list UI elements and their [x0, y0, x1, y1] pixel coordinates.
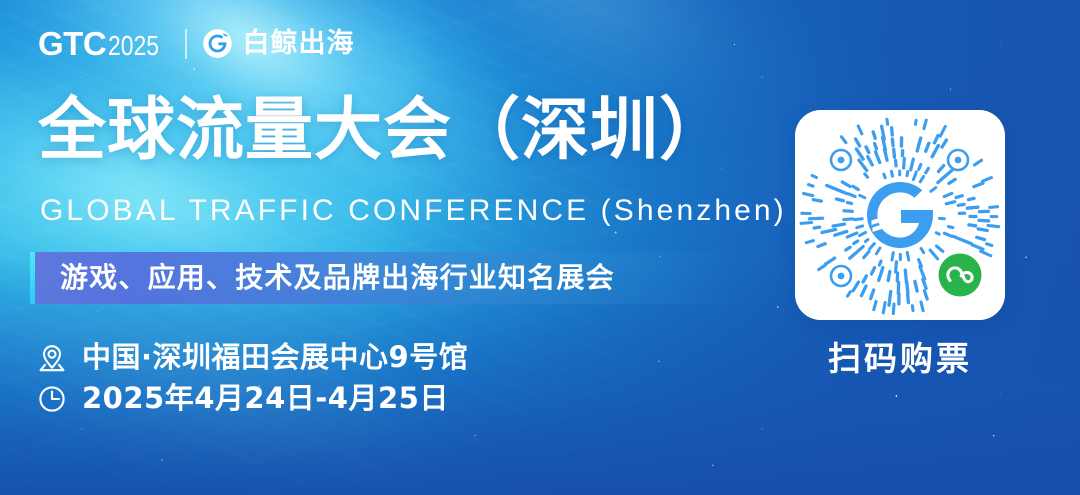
tagline-text: 游戏、应用、技术及品牌出海行业知名展会	[60, 264, 615, 292]
clock-icon	[36, 383, 68, 415]
gtc-logo-main: GTC	[38, 27, 106, 60]
page-subtitle: GLOBAL TRAFFIC CONFERENCE (Shenzhen)	[40, 196, 787, 226]
wechat-miniprogram-badge-icon	[935, 250, 985, 300]
gtc-logo-year: 2025	[108, 32, 159, 60]
tagline-bar: 游戏、应用、技术及品牌出海行业知名展会	[30, 252, 740, 304]
beluga-g-circle-icon	[202, 28, 233, 59]
brand-logo-row: GTC 2025 白鲸出海	[38, 27, 354, 60]
qr-caption: 扫码购票	[795, 342, 1005, 375]
event-info-list: 中国·深圳福田会展中心9号馆 2025年4月24日-4月25日	[36, 342, 468, 424]
qr-code-card[interactable]	[795, 110, 1005, 320]
vertical-divider-icon	[185, 29, 187, 59]
gtc-conference-banner: GTC 2025 白鲸出海 全球流量大会（深圳） GLOBAL TRAFFIC …	[0, 0, 1080, 495]
info-date-text: 2025年4月24日-4月25日	[82, 383, 449, 415]
location-pin-icon	[36, 342, 68, 374]
baijing-logo: 白鲸出海	[202, 28, 354, 59]
qr-code-block[interactable]: 扫码购票	[795, 110, 1005, 375]
baijing-logo-text: 白鲸出海	[242, 30, 354, 57]
wechat-miniprogram-qr[interactable]	[795, 110, 1005, 320]
info-venue-text: 中国·深圳福田会展中心9号馆	[82, 342, 468, 374]
banner-content: GTC 2025 白鲸出海 全球流量大会（深圳） GLOBAL TRAFFIC …	[0, 0, 1080, 495]
tagline-accent-edge	[30, 252, 35, 304]
info-row-date: 2025年4月24日-4月25日	[36, 383, 468, 415]
gtc-logo: GTC 2025	[38, 27, 170, 60]
info-row-venue: 中国·深圳福田会展中心9号馆	[36, 342, 468, 374]
page-title: 全球流量大会（深圳）	[38, 95, 728, 167]
